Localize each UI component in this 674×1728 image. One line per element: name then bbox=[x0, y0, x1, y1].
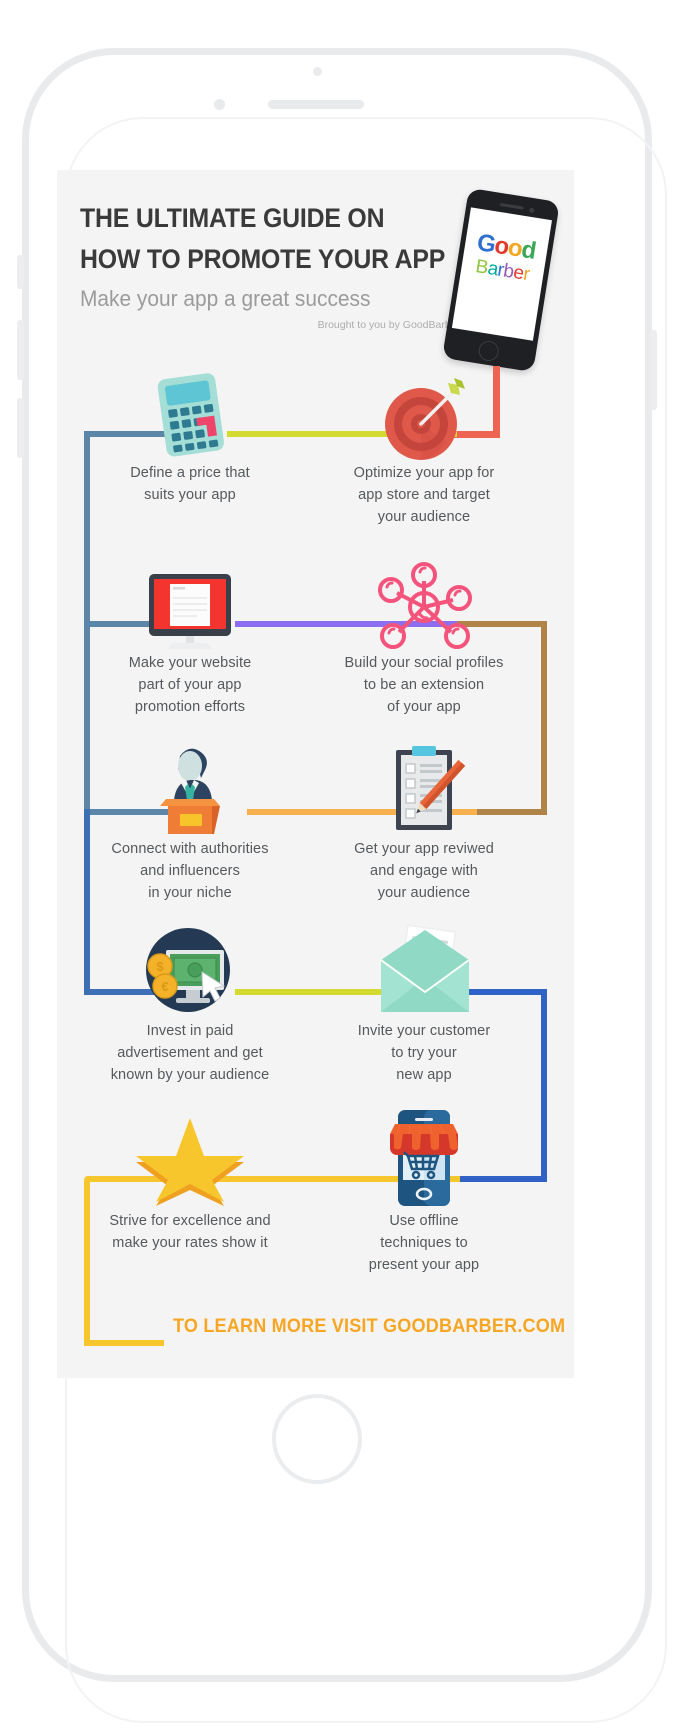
speaker-podium-icon bbox=[130, 738, 250, 838]
front-camera-icon bbox=[214, 99, 225, 110]
step-caption-line: Define a price that bbox=[75, 462, 305, 484]
earpiece-speaker bbox=[268, 100, 364, 109]
volume-down-button[interactable] bbox=[17, 398, 24, 458]
step-caption-line: present your app bbox=[309, 1254, 539, 1276]
step-paid-advertisement[interactable]: $ € Invest in paid advertisement and get… bbox=[75, 920, 305, 1086]
step-caption-line: Make your website bbox=[75, 652, 305, 674]
page-title-line1: THE ULTIMATE GUIDE ON bbox=[80, 198, 448, 239]
speaker-podium-icon-wrap bbox=[75, 738, 305, 838]
mock-home-button-icon bbox=[477, 340, 500, 363]
calculator-icon bbox=[140, 370, 240, 462]
step-caption-line: your audience bbox=[309, 882, 539, 904]
goodbarber-logo: Good Barber bbox=[460, 229, 548, 287]
infographic-header: THE ULTIMATE GUIDE ON HOW TO PROMOTE YOU… bbox=[80, 198, 480, 331]
step-caption-line: Optimize your app for bbox=[309, 462, 539, 484]
step-caption-line: Get your app reviwed bbox=[309, 838, 539, 860]
step-connect-authorities[interactable]: Connect with authorities and influencers… bbox=[75, 738, 305, 904]
step-caption-line: to be an extension bbox=[309, 674, 539, 696]
social-network-icon bbox=[369, 560, 479, 652]
logo-letter: d bbox=[520, 236, 538, 265]
step-caption-line: of your app bbox=[309, 696, 539, 718]
envelope-letter-icon-wrap bbox=[309, 920, 539, 1020]
rail-gold-1-bot bbox=[84, 1340, 164, 1346]
step-caption-line: and influencers bbox=[75, 860, 305, 882]
step-caption-line: known by your audience bbox=[75, 1064, 305, 1086]
footer-cta-link[interactable]: TO LEARN MORE VISIT GOODBARBER.COM bbox=[173, 1316, 553, 1338]
step-website-promotion[interactable]: Make your website part of your app promo… bbox=[75, 556, 305, 718]
paid-ads-money-icon-wrap: $ € bbox=[75, 920, 305, 1020]
mock-screen: Good Barber bbox=[452, 207, 552, 340]
page-subtitle: Make your app a great success bbox=[80, 286, 460, 312]
step-caption-line: Build your social profiles bbox=[309, 652, 539, 674]
monitor-icon bbox=[135, 560, 245, 652]
mock-camera-icon bbox=[529, 207, 535, 213]
social-network-icon-wrap bbox=[309, 556, 539, 652]
clipboard-pencil-icon-wrap bbox=[309, 738, 539, 838]
paid-ads-money-icon: $ € bbox=[130, 920, 250, 1020]
step-offline-techniques[interactable]: Use offline techniques to present your a… bbox=[309, 1110, 539, 1276]
step-caption-line: and engage with bbox=[309, 860, 539, 882]
shop-awning bbox=[390, 1124, 458, 1155]
step-caption-line: advertisement and get bbox=[75, 1042, 305, 1064]
credit-line: Brought to you by GoodBarber bbox=[80, 319, 460, 331]
mock-speaker-icon bbox=[500, 203, 524, 210]
step-caption-line: techniques to bbox=[309, 1232, 539, 1254]
proximity-sensor-icon bbox=[313, 67, 322, 76]
step-caption-line: part of your app bbox=[75, 674, 305, 696]
star-icon-wrap bbox=[75, 1110, 305, 1210]
step-optimize-app-store[interactable]: Optimize your app for app store and targ… bbox=[309, 366, 539, 528]
step-strive-excellence[interactable]: Strive for excellence and make your rate… bbox=[75, 1110, 305, 1254]
envelope-letter-icon bbox=[359, 920, 489, 1020]
volume-up-button[interactable] bbox=[17, 320, 24, 380]
calculator-icon-wrap bbox=[75, 366, 305, 462]
mobile-shop-icon-wrap bbox=[309, 1110, 539, 1210]
step-caption-line: new app bbox=[309, 1064, 539, 1086]
target-arrow-icon-wrap bbox=[309, 366, 539, 462]
monitor-icon-wrap bbox=[75, 556, 305, 652]
step-caption-line: Invest in paid bbox=[75, 1020, 305, 1042]
step-define-price[interactable]: Define a price that suits your app bbox=[75, 366, 305, 506]
target-arrow-icon bbox=[374, 370, 474, 462]
step-caption-line: to try your bbox=[309, 1042, 539, 1064]
page-title-line2: HOW TO PROMOTE YOUR APP bbox=[80, 239, 448, 280]
step-caption-line: your audience bbox=[309, 506, 539, 528]
svg-text:$: $ bbox=[156, 959, 164, 974]
rail-brown-1-v bbox=[541, 621, 547, 815]
home-button[interactable] bbox=[272, 1394, 362, 1484]
mobile-shop-icon bbox=[364, 1106, 484, 1210]
infographic-canvas: THE ULTIMATE GUIDE ON HOW TO PROMOTE YOU… bbox=[57, 170, 574, 1378]
mute-switch-button[interactable] bbox=[17, 255, 24, 289]
step-invite-customers[interactable]: Invite your customer to try your new app bbox=[309, 920, 539, 1086]
step-caption-line: in your niche bbox=[75, 882, 305, 904]
clipboard-pencil-icon bbox=[364, 738, 484, 838]
step-caption-line: Use offline bbox=[309, 1210, 539, 1232]
svg-text:€: € bbox=[161, 979, 168, 994]
step-get-app-reviewed[interactable]: Get your app reviwed and engage with you… bbox=[309, 738, 539, 904]
step-caption-line: make your rates show it bbox=[75, 1232, 305, 1254]
step-social-profiles[interactable]: Build your social profiles to be an exte… bbox=[309, 556, 539, 718]
step-caption-line: promotion efforts bbox=[75, 696, 305, 718]
step-caption-line: Connect with authorities bbox=[75, 838, 305, 860]
step-caption-line: suits your app bbox=[75, 484, 305, 506]
step-caption-line: Strive for excellence and bbox=[75, 1210, 305, 1232]
step-caption-line: Invite your customer bbox=[309, 1020, 539, 1042]
rail-navy-1-v bbox=[541, 989, 547, 1182]
star-icon bbox=[130, 1110, 250, 1210]
step-caption-line: app store and target bbox=[309, 484, 539, 506]
power-button[interactable] bbox=[650, 330, 657, 410]
